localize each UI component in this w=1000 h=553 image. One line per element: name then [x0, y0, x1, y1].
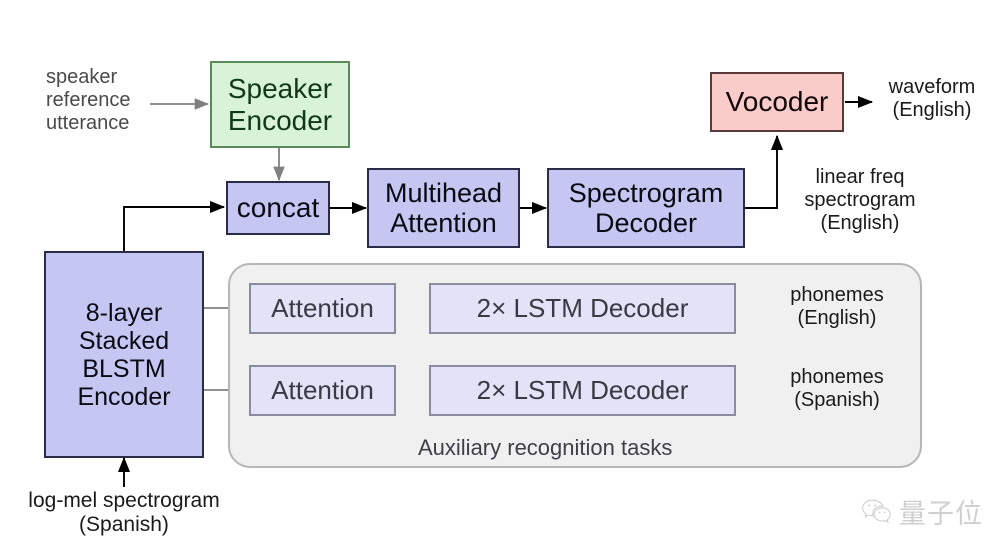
watermark-text: 量子位 [899, 492, 983, 531]
phonemes-spanish-label: phonemes (Spanish) [772, 366, 902, 412]
attention-box-english[interactable]: Attention [249, 283, 396, 334]
diagram-canvas: Speaker Encoder concat Multihead Attenti… [0, 0, 1000, 553]
linear-freq-spectrogram-label: linear freq spectrogram (English) [786, 166, 934, 234]
multihead-attention-box[interactable]: Multihead Attention [367, 168, 520, 248]
log-mel-spectrogram-label: log-mel spectrogram (Spanish) [4, 489, 244, 537]
speaker-reference-utterance-label: speaker reference utterance [46, 66, 166, 134]
waveform-english-label: waveform (English) [866, 76, 998, 122]
speaker-encoder-box[interactable]: Speaker Encoder [210, 61, 350, 148]
vocoder-box[interactable]: Vocoder [710, 72, 844, 132]
lstm-decoder-box-spanish[interactable]: 2× LSTM Decoder [429, 365, 736, 416]
arrow-encoder-to-concat [124, 207, 224, 252]
arrow-spectrogram-decoder-to-vocoder [745, 136, 777, 208]
attention-box-spanish[interactable]: Attention [249, 365, 396, 416]
concat-box[interactable]: concat [226, 181, 330, 235]
blstm-encoder-box[interactable]: 8-layer Stacked BLSTM Encoder [44, 251, 204, 458]
auxiliary-tasks-caption: Auxiliary recognition tasks [418, 435, 672, 461]
lstm-decoder-box-english[interactable]: 2× LSTM Decoder [429, 283, 736, 334]
spectrogram-decoder-box[interactable]: Spectrogram Decoder [547, 168, 745, 248]
phonemes-english-label: phonemes (English) [772, 284, 902, 330]
wechat-icon [862, 499, 892, 525]
watermark: 量子位 [862, 492, 983, 531]
